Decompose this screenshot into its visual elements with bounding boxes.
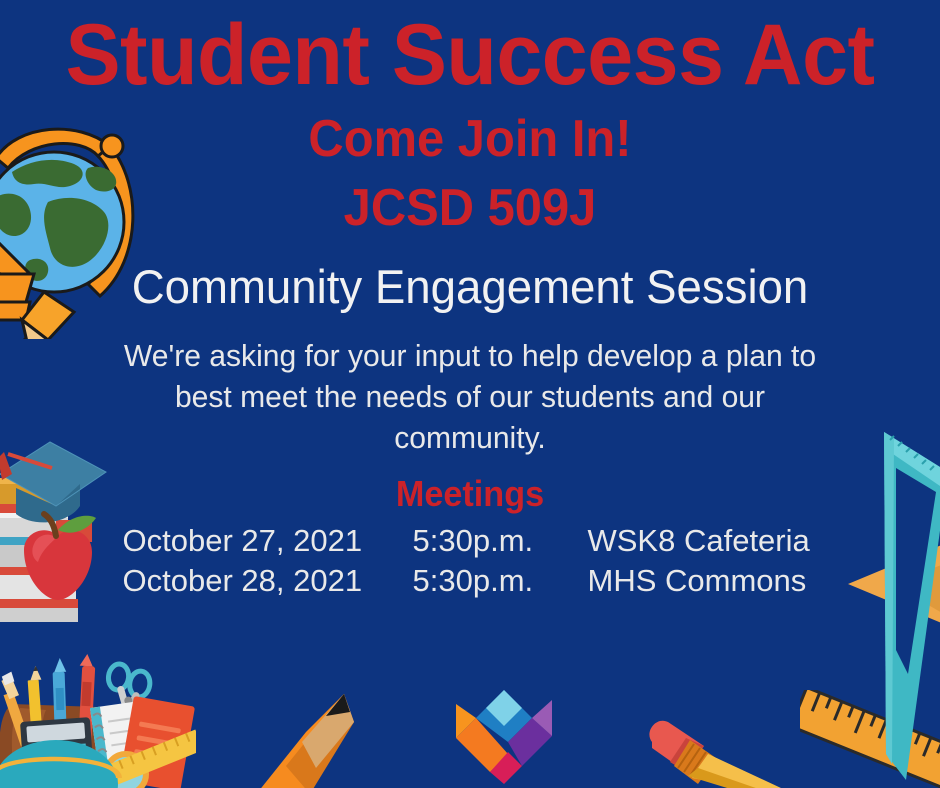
meeting-location: WSK8 Cafeteria: [588, 521, 818, 562]
table-row: October 27, 2021 5:30p.m. WSK8 Cafeteria: [123, 521, 818, 562]
meeting-location: MHS Commons: [588, 561, 818, 602]
poster-text-stack: Student Success Act Come Join In! JCSD 5…: [0, 0, 940, 602]
subtitle-come-join-in: Come Join In!: [28, 98, 912, 167]
chevron-logo-icon: [452, 686, 556, 788]
table-row: October 28, 2021 5:30p.m. MHS Commons: [123, 561, 818, 602]
meeting-date: October 28, 2021: [123, 561, 413, 602]
session-headline: Community Engagement Session: [14, 235, 926, 313]
school-supplies-bag-icon: [0, 652, 196, 788]
poster-canvas: Student Success Act Come Join In! JCSD 5…: [0, 0, 940, 788]
pencil-eraser-icon: [646, 700, 806, 788]
subtitle-district-name: JCSD 509J: [28, 167, 912, 236]
meeting-time: 5:30p.m.: [413, 561, 588, 602]
pencil-icon: [258, 694, 388, 788]
session-description: We're asking for your input to help deve…: [101, 313, 838, 459]
meeting-time: 5:30p.m.: [413, 521, 588, 562]
meetings-heading: Meetings: [24, 459, 917, 515]
page-title: Student Success Act: [19, 0, 921, 98]
meetings-table: October 27, 2021 5:30p.m. WSK8 Cafeteria…: [123, 521, 818, 603]
meeting-date: October 27, 2021: [123, 521, 413, 562]
